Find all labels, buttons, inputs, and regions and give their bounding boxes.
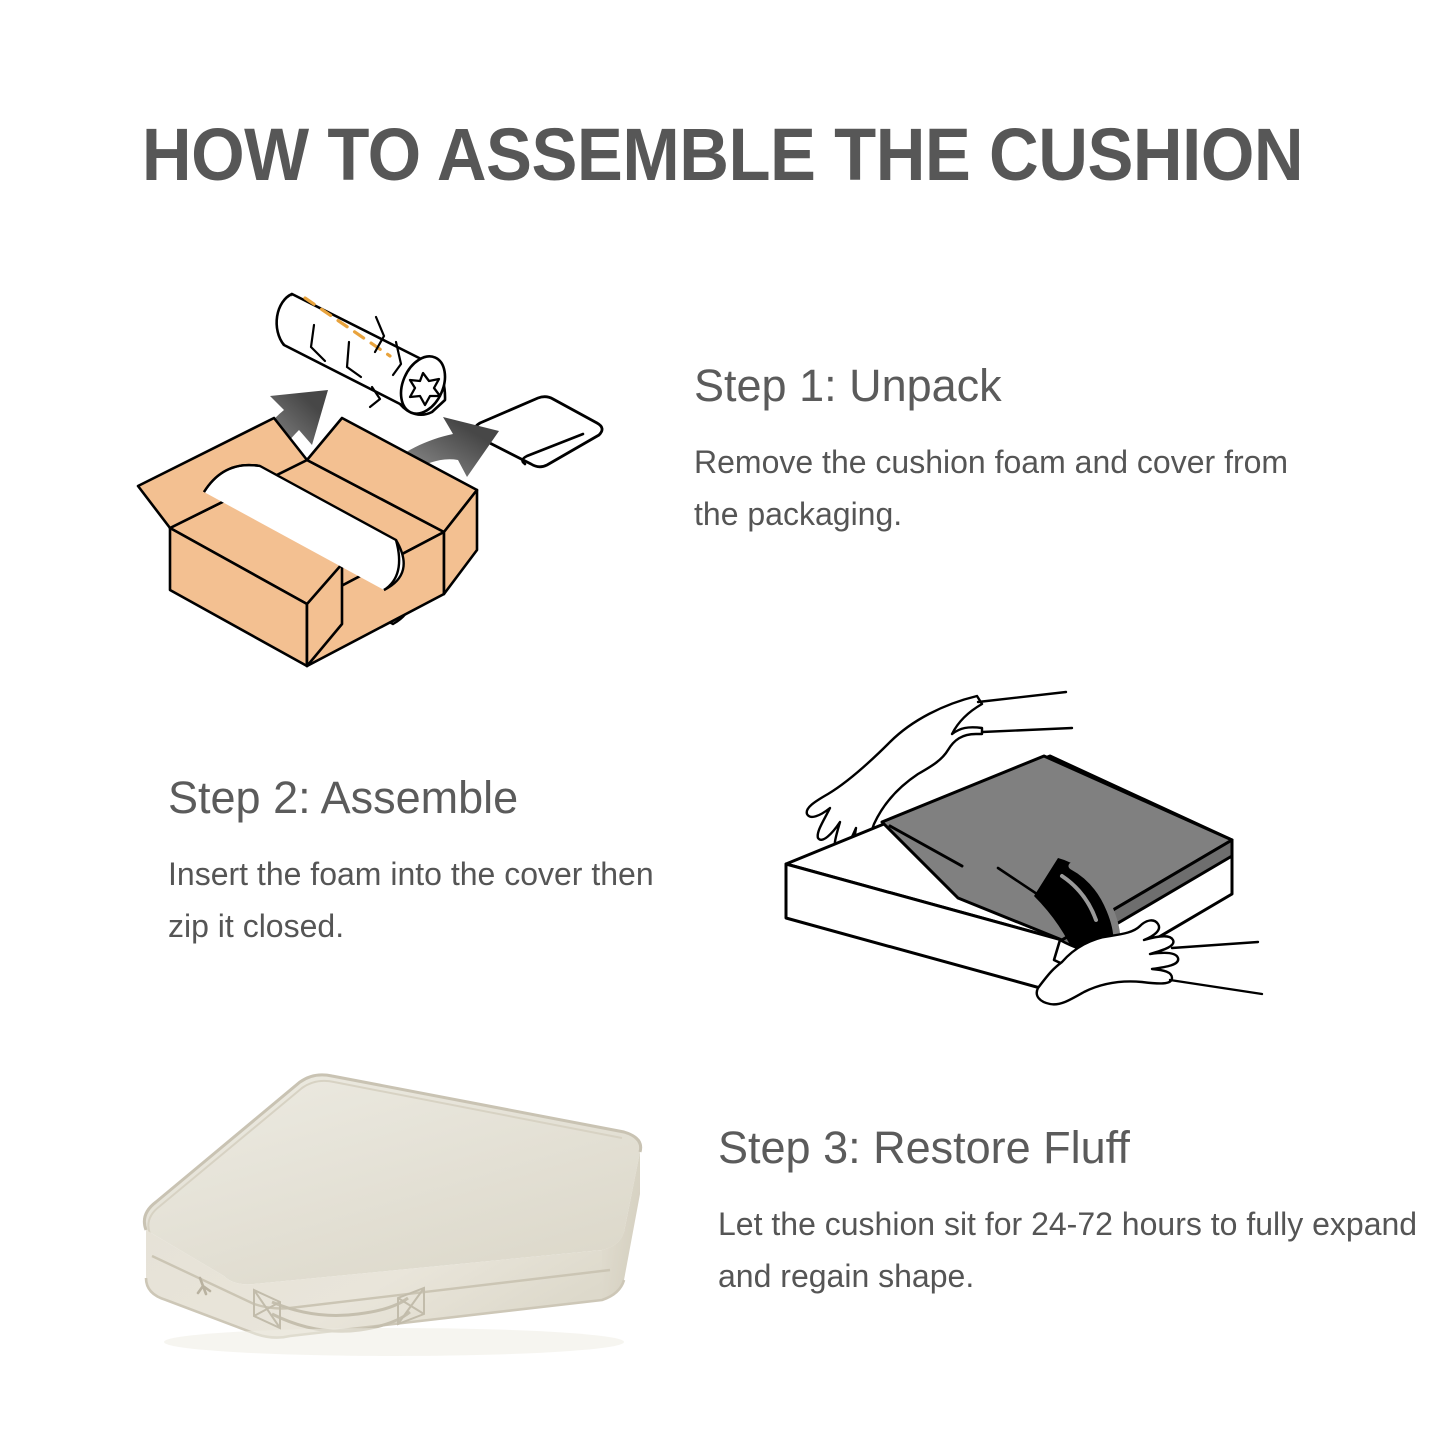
step-2-body: Insert the foam into the cover then zip … [168, 848, 688, 952]
step-2-heading: Step 2: Assemble [168, 770, 688, 826]
instruction-sheet: HOW TO ASSEMBLE THE CUSHION [0, 0, 1445, 1445]
page-title: HOW TO ASSEMBLE THE CUSHION [51, 112, 1395, 198]
step-3-text-block: Step 3: Restore Fluff Let the cushion si… [718, 1120, 1418, 1302]
unpack-illustration [132, 232, 632, 662]
cushion-top [144, 1075, 640, 1284]
step-3-heading: Step 3: Restore Fluff [718, 1120, 1418, 1176]
step-3-body: Let the cushion sit for 24-72 hours to f… [718, 1198, 1418, 1302]
step-1-text-block: Step 1: Unpack Remove the cushion foam a… [694, 358, 1334, 540]
finished-cushion-illustration [104, 1042, 684, 1382]
cushion-shadow [164, 1328, 624, 1356]
step-1-heading: Step 1: Unpack [694, 358, 1334, 414]
step-2-text-block: Step 2: Assemble Insert the foam into th… [168, 770, 688, 952]
step-1-body: Remove the cushion foam and cover from t… [694, 436, 1334, 540]
assemble-illustration [772, 690, 1262, 1060]
